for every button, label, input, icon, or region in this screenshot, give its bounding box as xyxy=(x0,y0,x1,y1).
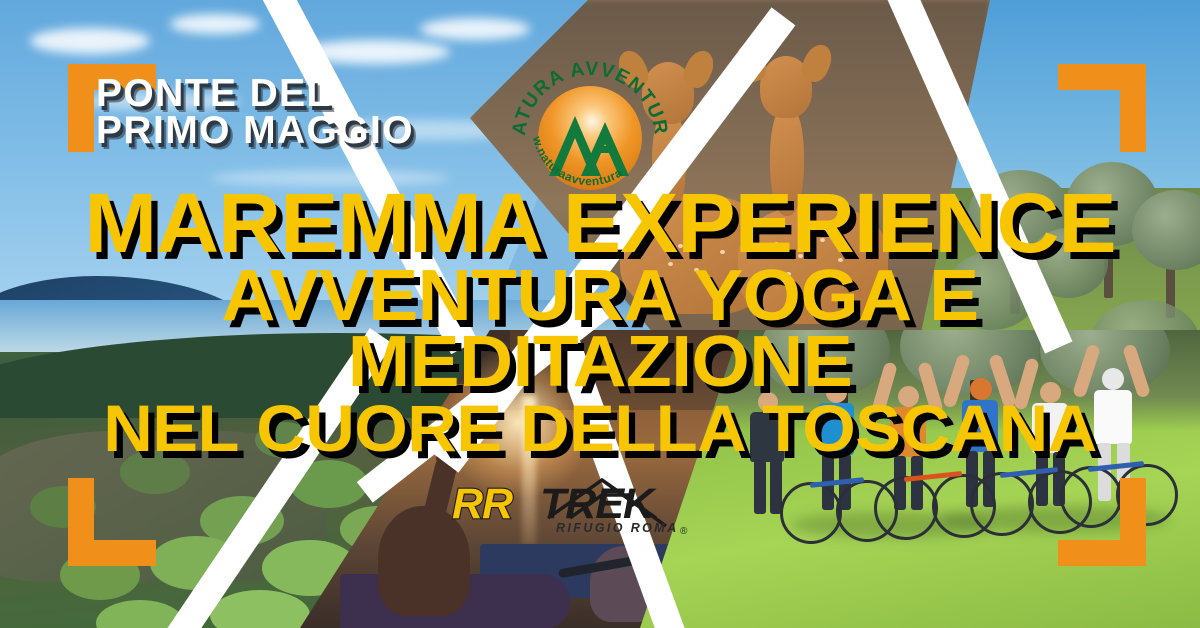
rrtrek-logo: RR TREK RIFUGIO ROMA ® xyxy=(452,474,722,540)
natura-avventura-logo: NATURA AVVENTURA • www.naturaavventura xyxy=(505,42,675,207)
corner-bracket-bottom-left xyxy=(68,478,156,566)
kicker-line-1: PONTE DEL xyxy=(96,76,414,113)
kicker-line-2: PRIMO MAGGIO xyxy=(96,113,414,150)
headline-line-4: NEL CUORE DELLA TOSCANA xyxy=(0,399,1200,458)
promo-banner: PONTE DEL PRIMO MAGGIO MAREMMA EXPERIENC… xyxy=(0,0,1200,628)
corner-bracket-top-right xyxy=(1058,64,1146,152)
corner-bracket-bottom-right xyxy=(1058,478,1146,566)
rrtrek-mark-primary: RR xyxy=(452,480,513,528)
rrtrek-trademark-icon: ® xyxy=(680,526,688,537)
headline-line-2: AVVENTURA YOGA E xyxy=(0,264,1200,329)
event-kicker: PONTE DEL PRIMO MAGGIO xyxy=(96,76,414,149)
main-headline: MAREMMA EXPERIENCE AVVENTURA YOGA E MEDI… xyxy=(0,186,1200,459)
headline-line-3: MEDITAZIONE xyxy=(0,330,1200,395)
rrtrek-tagline: RIFUGIO ROMA xyxy=(556,521,679,535)
